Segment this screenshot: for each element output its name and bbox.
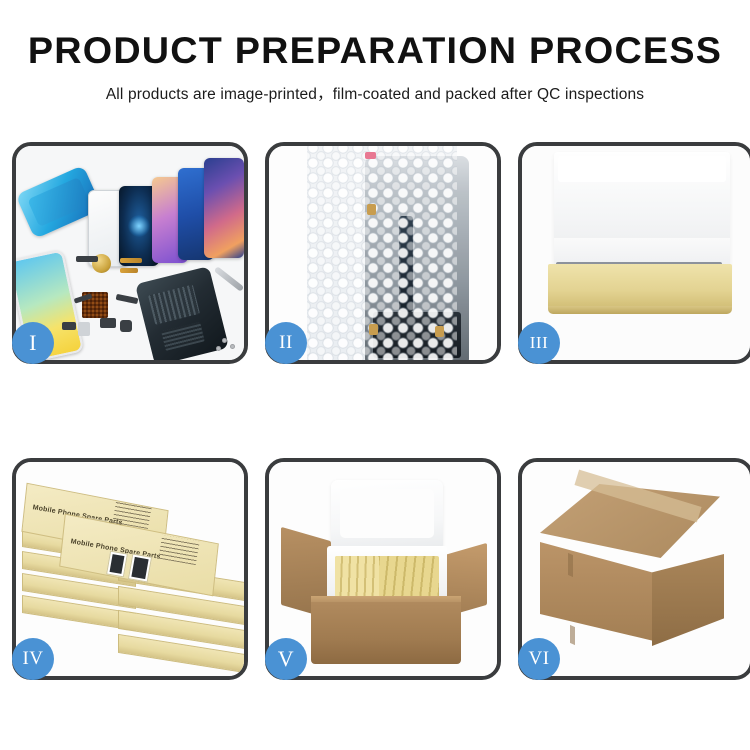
page-header: PRODUCT PREPARATION PROCESS All products… [0,0,750,104]
step-badge-2: II [265,322,307,364]
step-image-3 [522,146,750,360]
process-step-card-6[interactable]: VI [518,458,750,680]
step-image-4: Mobile Phone Spare Parts Mobile Phone Sp… [16,462,244,676]
screen-connector-top [367,204,376,215]
screw-2 [230,344,235,349]
step-image-2 [269,146,497,360]
step-image-5 [269,462,497,676]
phone-chassis [135,266,229,360]
page-title: PRODUCT PREPARATION PROCESS [0,30,750,73]
process-step-card-4[interactable]: Mobile Phone Spare Parts Mobile Phone Sp… [12,458,248,680]
foam-box-lid-open [331,480,443,552]
carton-body [311,602,461,664]
qc-sticker [365,152,376,159]
flex-cable-2 [120,268,138,273]
step-badge-5: V [265,638,307,680]
small-connector-part [120,320,132,332]
step-image-1 [16,146,244,360]
process-step-card-2[interactable]: II [265,142,501,364]
camera-module-part [100,318,116,328]
process-step-card-1[interactable]: I [12,142,248,364]
yellow-boxes-group [335,556,379,600]
box-stack: Mobile Phone Spare Parts Mobile Phone Sp… [22,476,244,672]
phone-display-gradient [204,158,244,258]
carton-front-face [540,542,658,642]
tweezers-tool [214,266,244,292]
carton-seam-top [568,553,573,577]
carton-seam-bottom [570,625,575,645]
step-badge-1: I [12,322,54,364]
kraft-tray-body [548,264,732,312]
white-foam-lid [554,152,730,272]
flex-cable-1 [120,258,142,263]
kraft-tray-edge [548,306,732,314]
carton-side-face [652,554,724,646]
screw-1 [222,338,227,343]
screen-connector-bottom-left [369,324,378,335]
speaker-mesh-part [76,256,98,262]
page-subtitle: All products are image-printed，film-coat… [0,82,750,104]
step-badge-6: VI [518,638,560,680]
process-step-card-3[interactable]: III [518,142,750,364]
antenna-flex-part [116,294,139,304]
screen-connector-bottom-right [435,326,444,337]
step-badge-3: III [518,322,560,364]
process-step-card-5[interactable]: V [265,458,501,680]
screw-3 [216,346,221,351]
bubble-wrap-bag [307,146,457,360]
process-step-grid: I II III [12,142,740,680]
bracket-part [62,322,76,330]
step-image-6 [522,462,750,676]
sim-tray-part [78,322,90,336]
step-badge-4: IV [12,638,54,680]
